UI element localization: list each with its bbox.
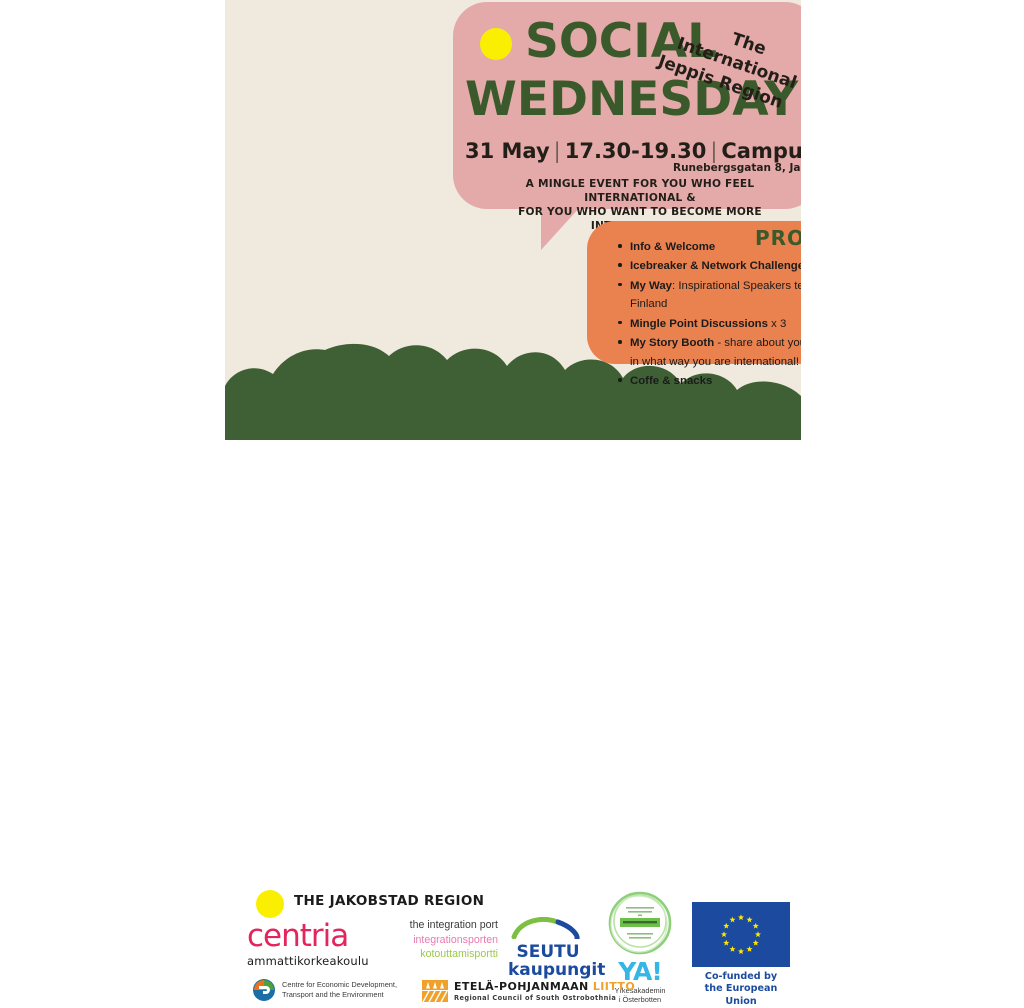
seutukaupungit-logo: SEUTU kaupungit bbox=[508, 917, 588, 980]
program-item-title: My Story Booth bbox=[630, 337, 714, 349]
program-list-item: Icebreaker & Network Challenge - connect… bbox=[617, 257, 801, 275]
european-union-flag-icon bbox=[692, 902, 790, 967]
seutu-line-2: kaupungit bbox=[508, 962, 588, 980]
program-list-item: My Way: Inspirational Speakers tell us a… bbox=[617, 277, 801, 314]
meta-separator-1: | bbox=[550, 139, 565, 163]
event-date: 31 May bbox=[465, 139, 550, 163]
event-venue: Campus Allegro bbox=[721, 139, 801, 163]
event-time: 17.30-19.30 bbox=[565, 139, 707, 163]
program-list: Info & WelcomeIcebreaker & Network Chall… bbox=[617, 238, 801, 392]
program-item-title: My Way bbox=[630, 280, 672, 292]
integration-port-line-2: integrationsporten bbox=[384, 933, 498, 948]
program-item-title: Info & Welcome bbox=[630, 241, 715, 253]
program-list-item: My Story Booth - share about your journe… bbox=[617, 334, 801, 371]
epl-subtitle: Regional Council of South Ostrobothnia bbox=[454, 994, 635, 1002]
seutu-line-1: SEUTU bbox=[508, 944, 588, 962]
etela-pohjanmaan-liitto-logo: ETELÄ-POHJANMAAN LIITTO Regional Council… bbox=[422, 980, 635, 1002]
eu-funding-line-2: the European Union bbox=[692, 983, 790, 1008]
epl-mark-icon bbox=[422, 980, 448, 1002]
centria-subtitle: ammattikorkeakoulu bbox=[247, 954, 369, 968]
eu-funding-note: Co-funded by the European Union bbox=[692, 971, 790, 1008]
event-tagline-line-1: A MINGLE EVENT FOR YOU WHO FEEL INTERNAT… bbox=[480, 178, 800, 206]
sponsor-logo-bar: THE JAKOBSTAD REGION centria ammattikork… bbox=[0, 440, 1024, 576]
event-address: Runebergsgatan 8, Jakobstad bbox=[673, 162, 801, 174]
jakobstad-sun-icon bbox=[256, 890, 284, 918]
centria-wordmark: centria bbox=[247, 921, 369, 952]
ely-centre-logo: Centre for Economic Development, Transpo… bbox=[252, 978, 397, 1002]
ely-line-1: Centre for Economic Development, bbox=[282, 980, 397, 990]
epl-liitto: LIITTO bbox=[593, 980, 635, 993]
sun-dot-icon bbox=[480, 28, 512, 60]
program-item-detail: x 3 bbox=[768, 318, 786, 330]
jakobstad-region-label: THE JAKOBSTAD REGION bbox=[294, 893, 484, 909]
program-list-item: Coffe & snacks bbox=[617, 372, 801, 390]
integration-port-line-1: the integration port bbox=[384, 918, 498, 933]
program-item-title: Mingle Point Discussions bbox=[630, 318, 768, 330]
meta-separator-2: | bbox=[706, 139, 721, 163]
program-list-item: Mingle Point Discussions x 3 bbox=[617, 315, 801, 333]
program-item-title: Coffe & snacks bbox=[630, 375, 712, 387]
poster-canvas: SOCIAL WEDNESDAY The International Jeppi… bbox=[225, 0, 801, 440]
centria-logo: centria ammattikorkeakoulu bbox=[247, 921, 369, 968]
eu-funding-line-1: Co-funded by bbox=[692, 971, 790, 983]
program-item-title: Icebreaker & Network Challenge bbox=[630, 260, 801, 272]
integration-port-line-3: kotouttamisportti bbox=[384, 947, 498, 962]
event-meta-line: 31 May|17.30-19.30|Campus Allegro bbox=[465, 139, 801, 163]
program-list-item: Info & Welcome bbox=[617, 238, 801, 256]
integration-port-logo: the integration port integrationsporten … bbox=[384, 918, 498, 962]
epl-name: ETELÄ-POHJANMAAN bbox=[454, 980, 593, 993]
att-valmoende-ring-logo bbox=[604, 887, 676, 959]
poster-stage: SOCIAL WEDNESDAY The International Jeppi… bbox=[0, 0, 1024, 576]
ely-mark-icon bbox=[252, 978, 276, 1002]
ely-line-2: Transport and the Environment bbox=[282, 990, 397, 1000]
seutu-swoosh-icon bbox=[508, 917, 588, 939]
